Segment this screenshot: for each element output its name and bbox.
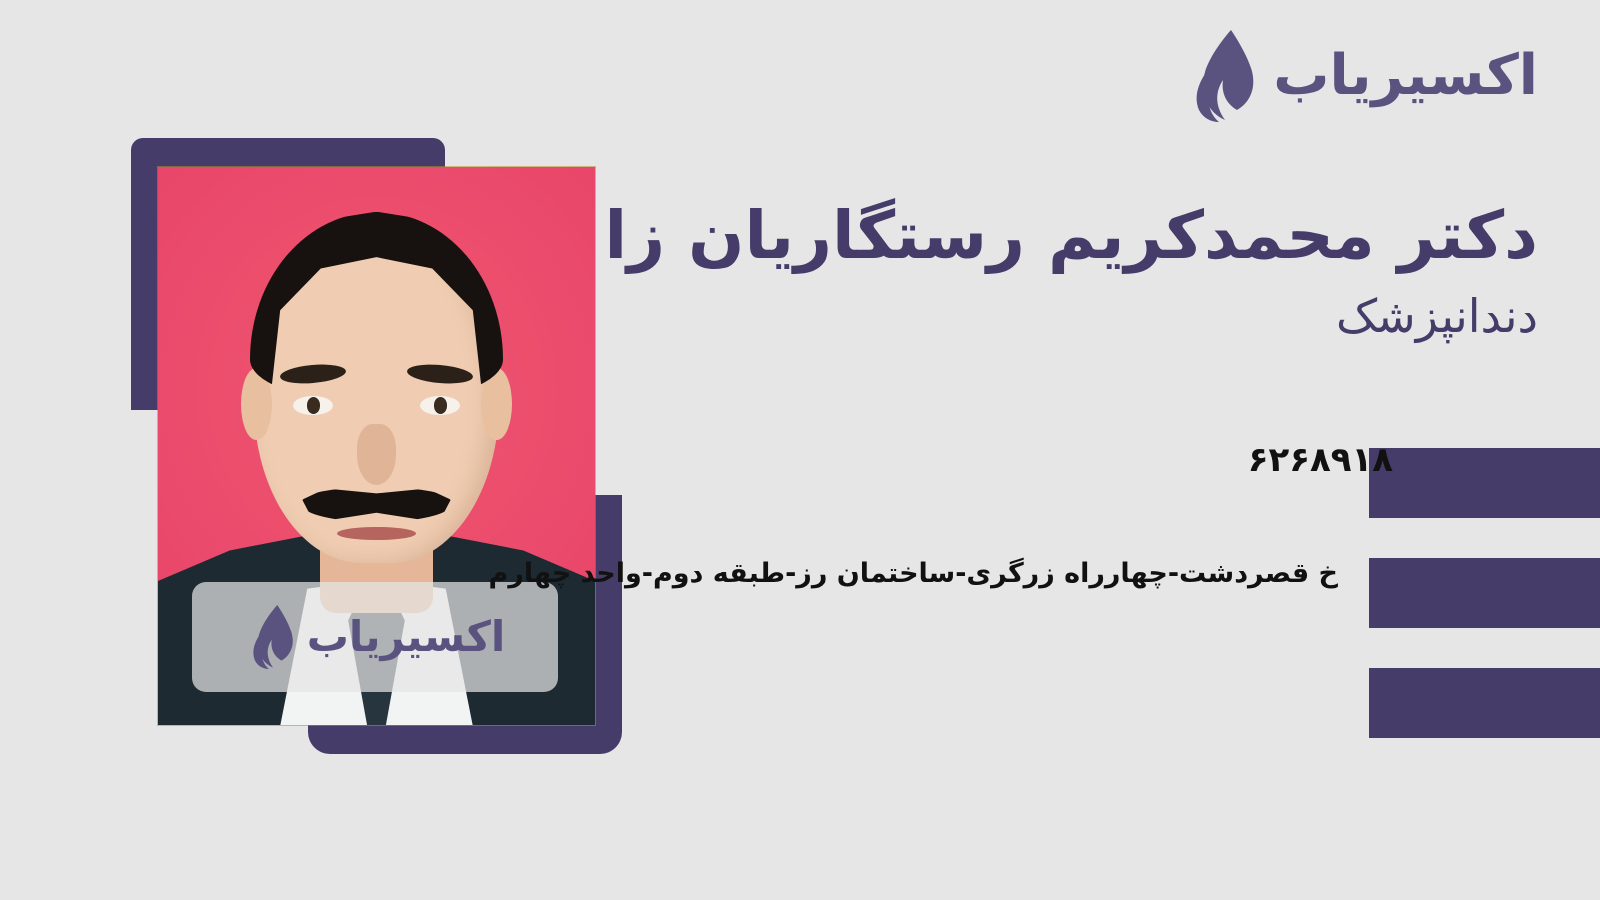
decorative-bar-2 [1369, 558, 1600, 628]
decorative-bar-3 [1369, 668, 1600, 738]
doctor-info: دکتر محمدکریم رستگاریان زا دندانپزشک [298, 196, 1538, 344]
doctor-phone[interactable]: ۶۲۶۸۹۱۸ [1248, 440, 1393, 480]
portrait-eye-left [293, 396, 332, 415]
doctor-address: خ قصردشت-چهارراه زرگری-ساختمان رز-طبقه د… [489, 558, 1338, 589]
doctor-specialty: دندانپزشک [298, 289, 1538, 344]
decorative-bar-1 [1369, 448, 1600, 518]
profile-card: اکسیریاب [0, 0, 1600, 900]
doctor-name: دکتر محمدکریم رستگاریان زا [298, 196, 1538, 275]
brand-name: اکسیریاب [1273, 48, 1538, 104]
brand-logo[interactable]: اکسیریاب [1185, 28, 1538, 124]
portrait-nose [357, 424, 396, 485]
portrait-eye-right [420, 396, 459, 415]
flame-droplet-icon [1185, 30, 1259, 122]
